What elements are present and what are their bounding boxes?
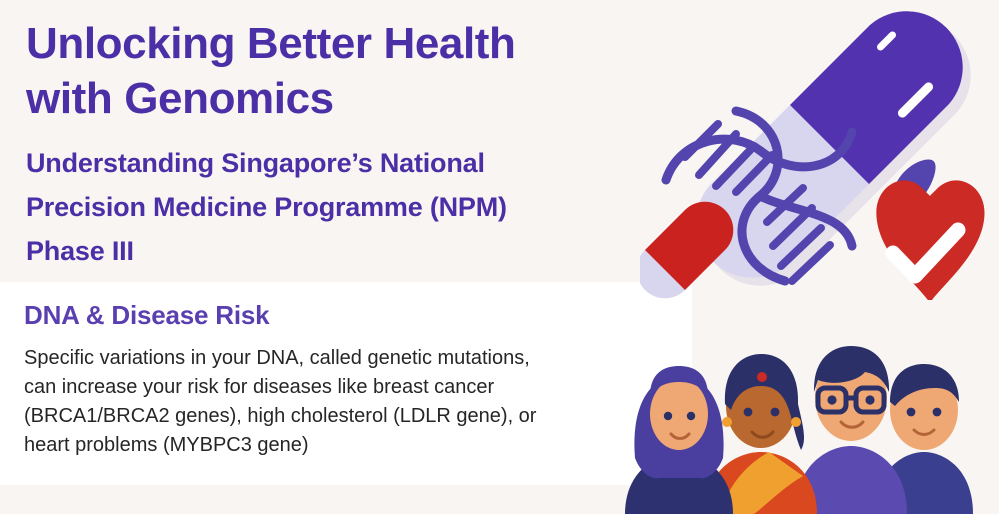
health-genomics-illustration xyxy=(640,0,999,300)
earring-left xyxy=(722,417,732,427)
infographic-canvas: Unlocking Better Health with Genomics Un… xyxy=(0,0,999,514)
person-woman-with-hijab xyxy=(625,366,733,514)
section-heading: DNA & Disease Risk xyxy=(24,300,269,330)
earring-right xyxy=(791,417,801,427)
page-title: Unlocking Better Health with Genomics xyxy=(26,16,656,126)
red-capsule-icon xyxy=(640,202,733,299)
diverse-people-illustration xyxy=(617,330,999,514)
page-subtitle: Understanding Singapore’s National Preci… xyxy=(26,141,646,273)
apple-checkmark-icon xyxy=(876,158,984,300)
section-body-text: Specific variations in your DNA, called … xyxy=(24,344,624,460)
bindi xyxy=(757,372,767,382)
